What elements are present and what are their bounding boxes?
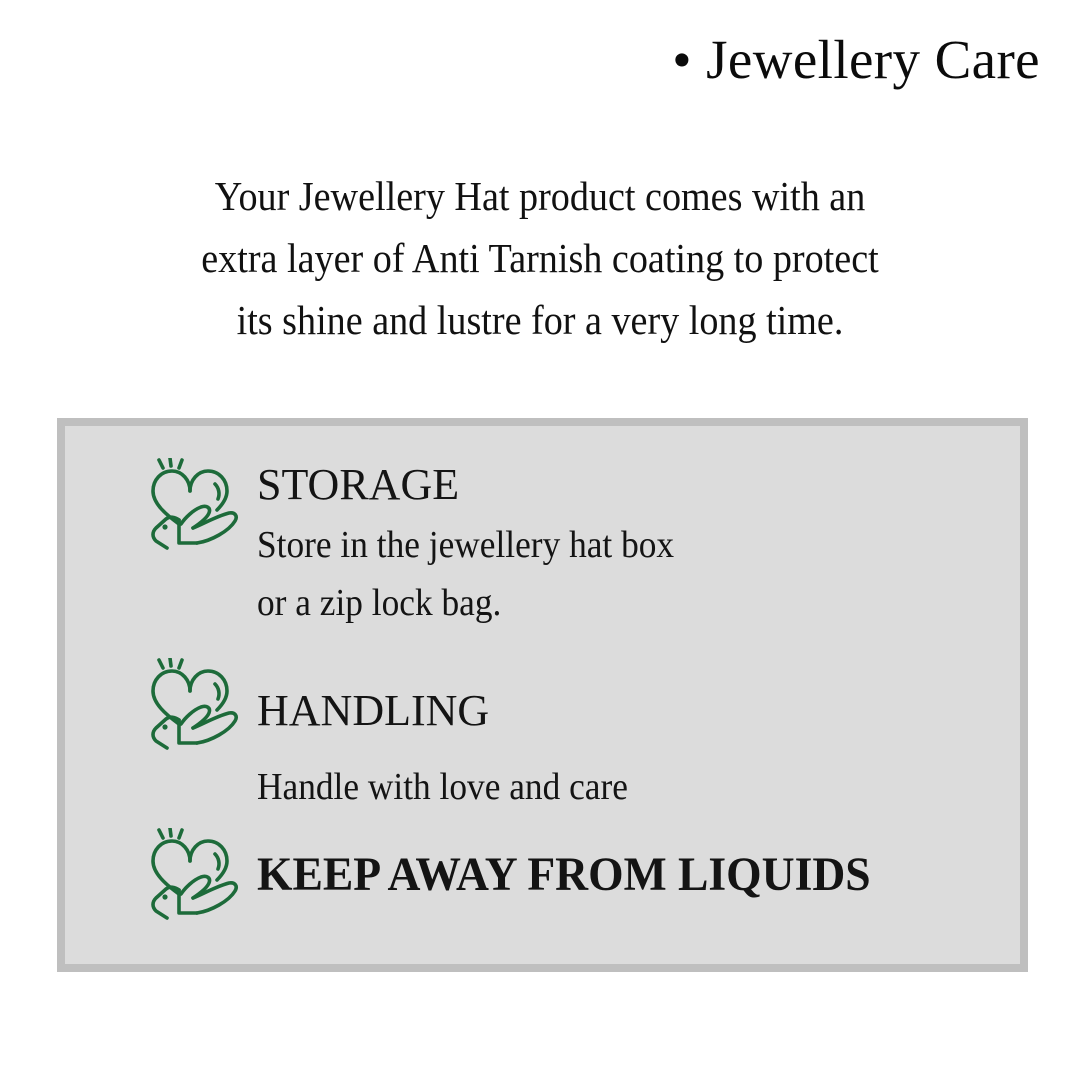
intro-paragraph: Your Jewellery Hat product comes with an… [70,165,1010,351]
heart-in-hand-icon [145,656,245,750]
care-line-storage-1: Store in the jewellery hat box [257,516,674,574]
care-row-handling: HANDLING Handle with love and care [145,656,656,816]
intro-line-3: its shine and lustre for a very long tim… [103,289,977,351]
care-row-liquids: KEEP AWAY FROM LIQUIDS [145,826,903,920]
care-row-liquids-text: KEEP AWAY FROM LIQUIDS [245,826,903,902]
heart-in-hand-icon [145,826,245,920]
care-row-storage-text: STORAGE Store in the jewellery hat box o… [245,456,706,632]
care-line-storage-2: or a zip lock bag. [257,574,674,632]
care-heading-liquids: KEEP AWAY FROM LIQUIDS [257,848,871,902]
page-title-row: • Jewellery Care [0,28,1040,91]
care-row-handling-text: HANDLING Handle with love and care [245,656,656,816]
intro-line-2: extra layer of Anti Tarnish coating to p… [103,227,977,289]
care-row-storage: STORAGE Store in the jewellery hat box o… [145,456,706,632]
care-heading-handling: HANDLING [257,686,656,736]
care-heading-storage: STORAGE [257,460,706,510]
heart-in-hand-icon [145,456,245,550]
page-title: • Jewellery Care [672,28,1040,91]
care-line-handling-1: Handle with love and care [257,758,628,816]
intro-line-1: Your Jewellery Hat product comes with an [103,165,977,227]
care-instructions-panel: STORAGE Store in the jewellery hat box o… [57,418,1028,972]
care-rows: STORAGE Store in the jewellery hat box o… [65,426,1020,964]
